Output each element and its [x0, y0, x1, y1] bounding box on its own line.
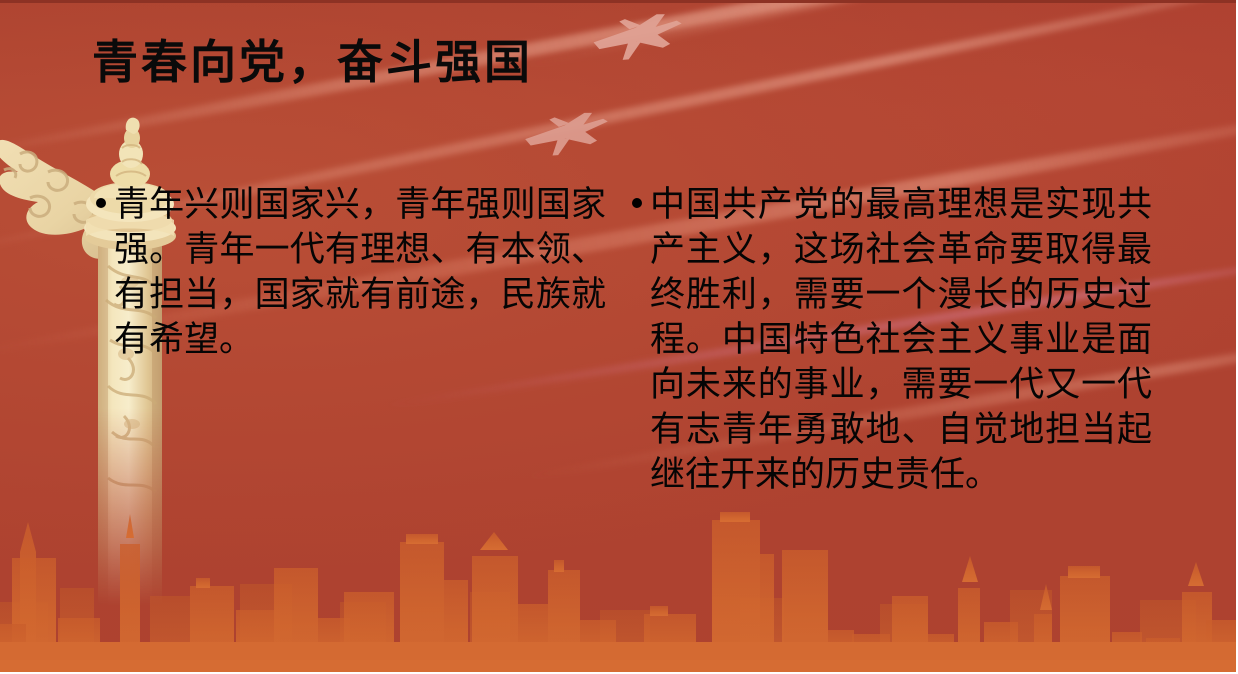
top-edge-line [0, 0, 1238, 3]
airplane-icon-2 [516, 104, 614, 168]
city-skyline-silhouette [0, 492, 1236, 672]
presentation-slide: 青春向党，奋斗强国 青年兴则国家兴，青年强则国家强。青年一代有理想、有本领、有担… [0, 0, 1238, 674]
left-column-paragraph: 青年兴则国家兴，青年强则国家强。青年一代有理想、有本领、有担当，国家就有前途，民… [114, 182, 606, 362]
left-bullet-column: 青年兴则国家兴，青年强则国家强。青年一代有理想、有本领、有担当，国家就有前途，民… [96, 182, 606, 362]
right-column-paragraph: 中国共产党的最高理想是实现共产主义，这场社会革命要取得最终胜利，需要一个漫长的历… [650, 182, 1152, 497]
bullet-point-icon-right [632, 198, 642, 208]
right-bullet-column: 中国共产党的最高理想是实现共产主义，这场社会革命要取得最终胜利，需要一个漫长的历… [632, 182, 1152, 497]
airplane-icon-1 [584, 5, 688, 73]
slide-title: 青春向党，奋斗强国 [92, 38, 533, 86]
bullet-point-icon-left [96, 198, 106, 208]
